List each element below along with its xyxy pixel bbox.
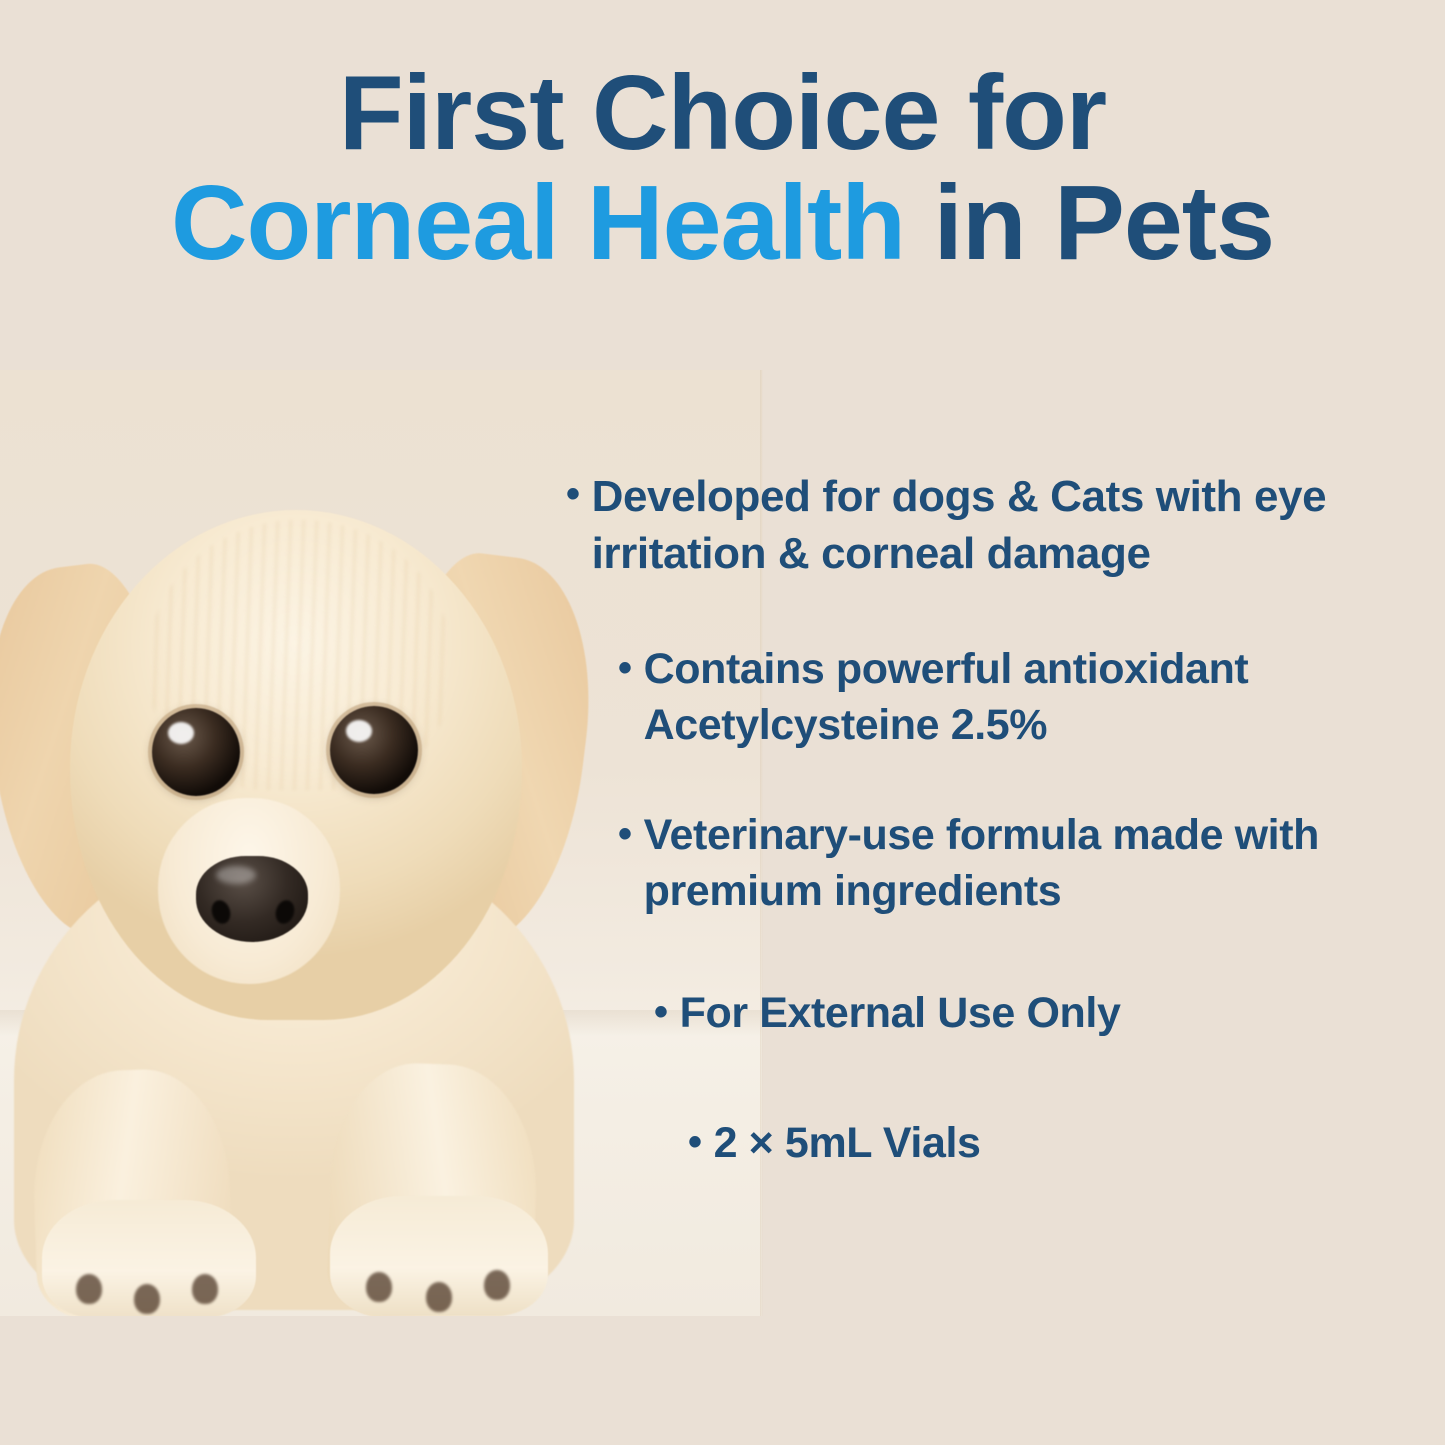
- headline-highlight: Corneal Health: [171, 164, 905, 282]
- puppy-right-paw: [330, 1196, 548, 1316]
- claw-icon: [484, 1270, 510, 1300]
- eye-highlight: [346, 720, 372, 742]
- puppy-left-paw: [42, 1200, 256, 1316]
- claw-icon: [366, 1272, 392, 1302]
- list-item-label: Contains powerful antioxidant Acetylcyst…: [644, 642, 1418, 754]
- page-title: First Choice for Corneal Health in Pets: [0, 58, 1445, 278]
- headline-line-1: First Choice for: [0, 58, 1445, 168]
- list-item: • 2 × 5mL Vials: [688, 1116, 1426, 1172]
- claw-icon: [426, 1282, 452, 1312]
- list-item-label: Developed for dogs & Cats with eye irrit…: [592, 468, 1411, 582]
- list-item-label: 2 × 5mL Vials: [714, 1116, 1426, 1172]
- eye-highlight: [168, 722, 194, 744]
- puppy-right-eye: [330, 706, 418, 794]
- claw-icon: [192, 1274, 218, 1304]
- list-item-label: For External Use Only: [680, 986, 1426, 1042]
- bullet-dot-icon: •: [618, 808, 632, 860]
- feature-list: • Developed for dogs & Cats with eye irr…: [566, 468, 1426, 1172]
- bullet-dot-icon: •: [566, 468, 580, 520]
- bullet-dot-icon: •: [654, 986, 668, 1038]
- nose-highlight: [216, 866, 256, 884]
- bullet-dot-icon: •: [618, 642, 632, 694]
- puppy-left-eye: [152, 708, 240, 796]
- list-item: • Contains powerful antioxidant Acetylcy…: [618, 642, 1418, 754]
- bullet-dot-icon: •: [688, 1116, 702, 1168]
- list-item: • Developed for dogs & Cats with eye irr…: [566, 468, 1411, 582]
- claw-icon: [76, 1274, 102, 1304]
- headline-suffix: in Pets: [905, 164, 1274, 282]
- headline-line-2: Corneal Health in Pets: [0, 168, 1445, 278]
- product-feature-poster: First Choice for Corneal Health in Pets: [0, 0, 1445, 1445]
- list-item: • For External Use Only: [654, 986, 1426, 1042]
- list-item-label: Veterinary-use formula made with premium…: [644, 808, 1408, 920]
- claw-icon: [134, 1284, 160, 1314]
- list-item: • Veterinary-use formula made with premi…: [618, 808, 1408, 920]
